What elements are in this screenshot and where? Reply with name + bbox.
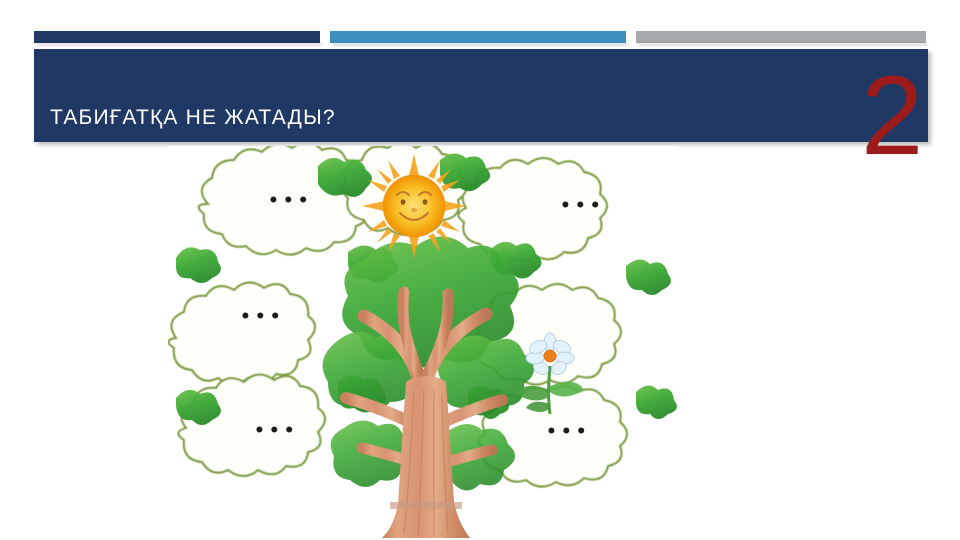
bubble-mid-left-dots: ••• xyxy=(240,309,285,326)
bubble-top-left-dots: ••• xyxy=(268,193,313,210)
bubble-mid-left-shape xyxy=(168,282,315,384)
bubble-bottom-right-dots: ••• xyxy=(546,424,591,441)
decor-bar-gray xyxy=(636,31,926,43)
top-decor-bars xyxy=(0,31,960,44)
title-banner: ТАБИҒАТҚА НЕ ЖАТАДЫ? xyxy=(34,49,928,142)
bubble-top-right-dots: ••• xyxy=(560,198,605,215)
tree-illustration: ••• ••• ••• ••• ••• xyxy=(168,146,678,538)
decor-bar-navy xyxy=(34,31,320,43)
sun-icon xyxy=(362,154,466,258)
bubble-bottom-left-dots: ••• xyxy=(254,423,299,440)
slide-title: ТАБИҒАТҚА НЕ ЖАТАДЫ? xyxy=(50,106,336,130)
slide-canvas: ТАБИҒАТҚА НЕ ЖАТАДЫ? 2 xyxy=(0,0,960,540)
decor-bar-blue xyxy=(330,31,626,43)
page-number: 2 xyxy=(861,60,923,172)
bubble-bottom-left-shape xyxy=(178,374,325,476)
